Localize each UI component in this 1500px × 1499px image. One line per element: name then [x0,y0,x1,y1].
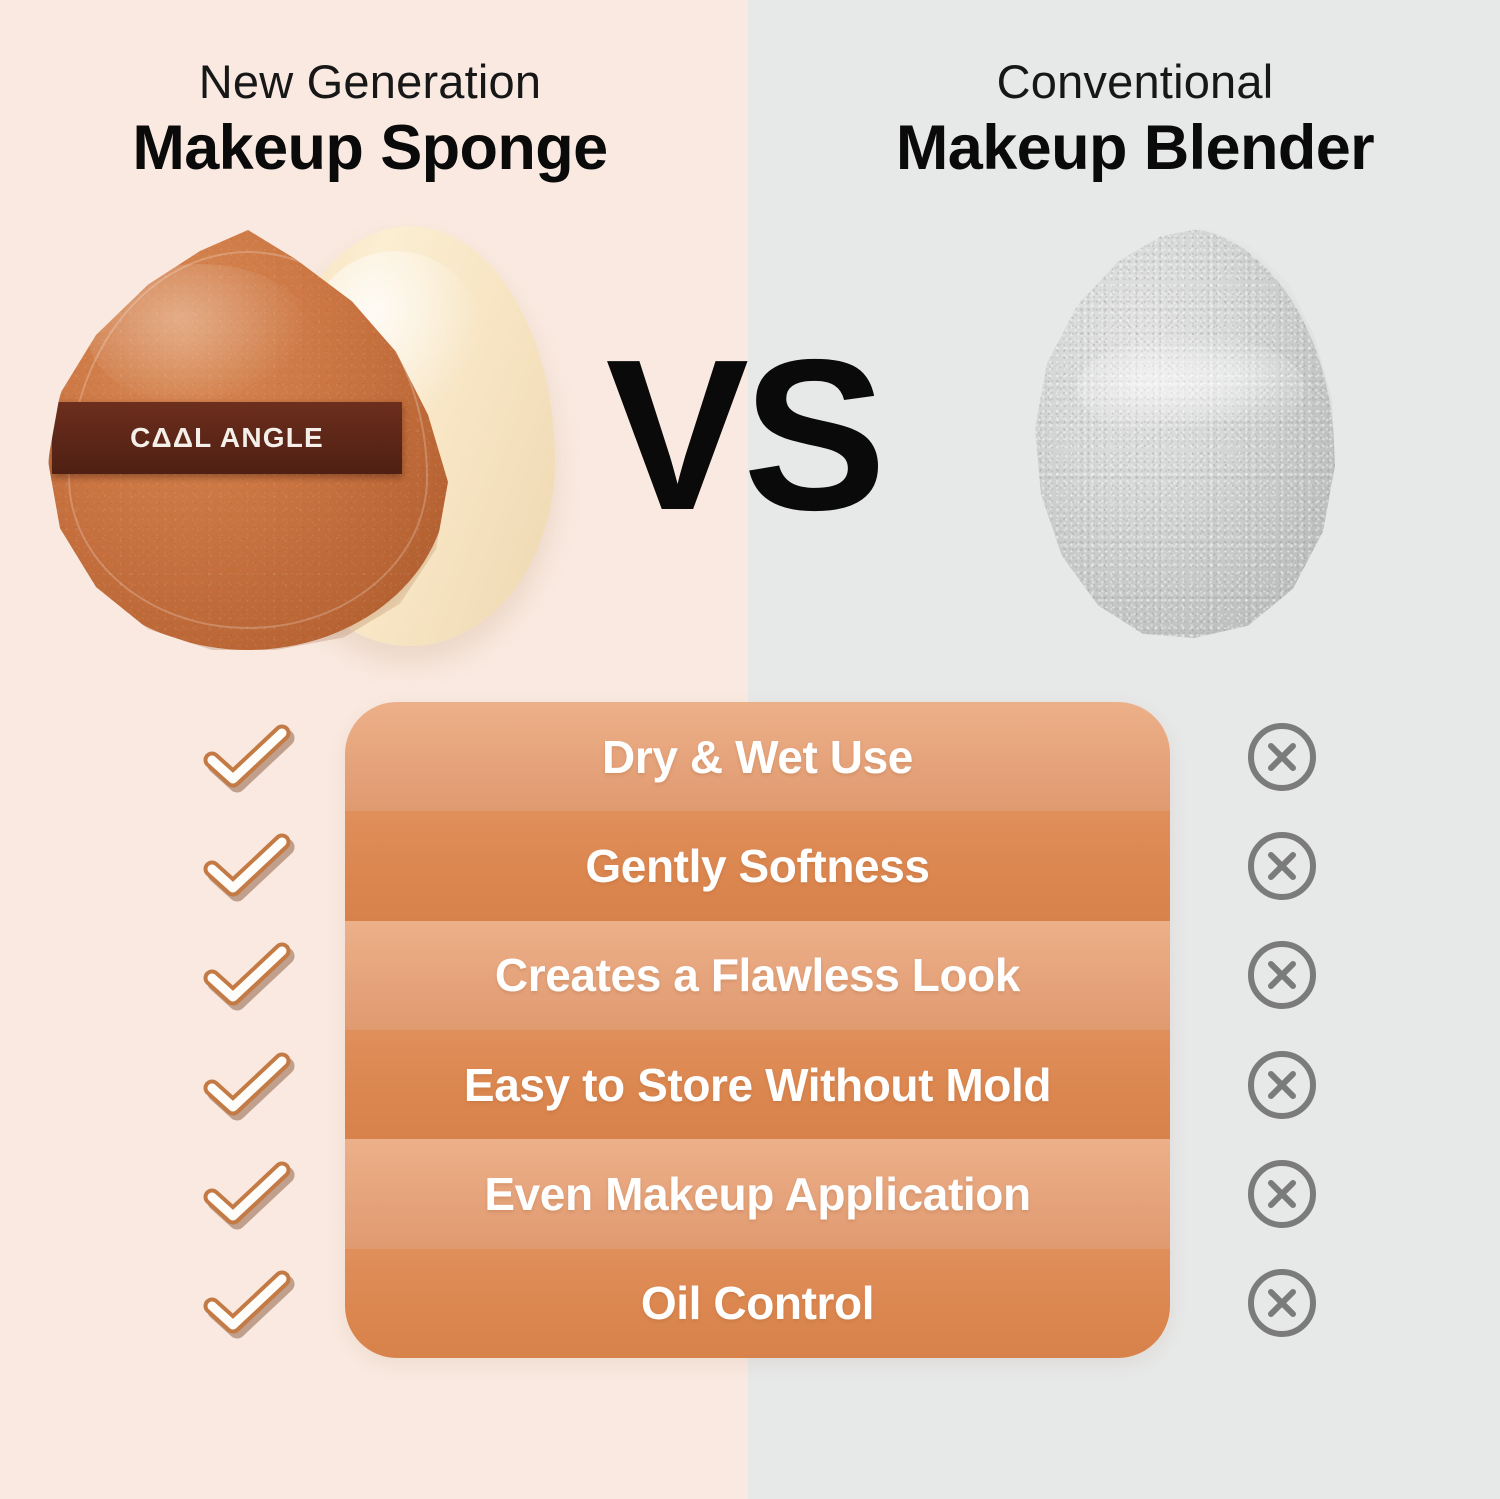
verdict-cell [178,702,318,811]
puff-highlight [88,264,312,407]
conventional-verdict-column [1222,702,1342,1358]
left-header-eyebrow: New Generation [20,58,720,107]
comparison-infographic: New Generation Makeup Sponge Conventiona… [0,0,1500,1499]
feature-label: Oil Control [641,1276,874,1330]
verdict-cell [1222,1249,1342,1358]
circle-x-icon [1244,937,1320,1013]
makeup-sponge-product-image: CΔΔL ANGLE [40,218,580,668]
brand-logo-text: CΔΔL ANGLE [130,422,324,454]
feature-row: Oil Control [345,1249,1170,1358]
check-icon [200,938,296,1012]
feature-label: Creates a Flawless Look [495,948,1020,1002]
check-icon [200,1048,296,1122]
feature-row: Dry & Wet Use [345,702,1170,811]
feature-row: Even Makeup Application [345,1139,1170,1248]
verdict-cell [1222,1030,1342,1139]
verdict-cell [178,1249,318,1358]
new-generation-verdict-column [178,702,318,1358]
check-icon [200,1266,296,1340]
check-icon [200,720,296,794]
circle-x-icon [1244,719,1320,795]
right-column-header: Conventional Makeup Blender [790,58,1480,183]
feature-label: Dry & Wet Use [602,730,913,784]
verdict-cell [178,1139,318,1248]
feature-label: Easy to Store Without Mold [464,1058,1051,1112]
feature-comparison-panel: Dry & Wet Use Gently Softness Creates a … [345,702,1170,1358]
versus-label: VS [583,327,903,542]
verdict-cell [178,921,318,1030]
verdict-cell [178,1030,318,1139]
left-header-title: Makeup Sponge [20,113,720,184]
check-icon [200,1157,296,1231]
verdict-cell [1222,702,1342,811]
circle-x-icon [1244,1047,1320,1123]
verdict-cell [1222,1139,1342,1248]
right-header-eyebrow: Conventional [790,58,1480,107]
left-column-header: New Generation Makeup Sponge [20,58,720,183]
verdict-cell [1222,811,1342,920]
circle-x-icon [1244,1265,1320,1341]
feature-label: Gently Softness [585,839,929,893]
feature-row: Easy to Store Without Mold [345,1030,1170,1139]
circle-x-icon [1244,828,1320,904]
check-icon [200,829,296,903]
right-header-title: Makeup Blender [790,113,1480,184]
feature-row: Gently Softness [345,811,1170,920]
circle-x-icon [1244,1156,1320,1232]
verdict-cell [1222,921,1342,1030]
puff-brand-band: CΔΔL ANGLE [52,402,402,474]
feature-label: Even Makeup Application [484,1167,1030,1221]
feature-row: Creates a Flawless Look [345,921,1170,1030]
verdict-cell [178,811,318,920]
